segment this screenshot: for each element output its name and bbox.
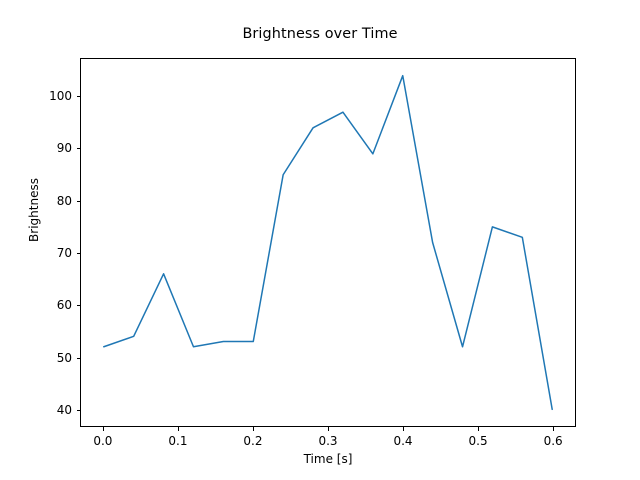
x-tick-label: 0.2: [243, 434, 262, 448]
brightness-series-line: [104, 76, 552, 410]
x-tick-label: 0.4: [393, 434, 412, 448]
chart-title: Brightness over Time: [0, 26, 640, 42]
matplotlib-figure: Brightness over Time 4050607080901000.00…: [0, 0, 640, 480]
plot-axes: [80, 58, 576, 427]
x-tick-mark: [103, 427, 104, 431]
line-plot: [81, 59, 575, 426]
x-axis-label: Time [s]: [80, 452, 576, 466]
y-tick-label: 60: [20, 298, 72, 312]
x-tick-mark: [178, 427, 179, 431]
x-tick-label: 0.0: [93, 434, 112, 448]
x-tick-mark: [328, 427, 329, 431]
x-tick-mark: [553, 427, 554, 431]
x-tick-mark: [253, 427, 254, 431]
y-tick-label: 40: [20, 403, 72, 417]
x-tick-mark: [403, 427, 404, 431]
x-tick-label: 0.6: [544, 434, 563, 448]
x-tick-label: 0.1: [168, 434, 187, 448]
y-axis-label: Brightness: [27, 140, 41, 280]
y-tick-label: 100: [20, 89, 72, 103]
x-tick-label: 0.5: [469, 434, 488, 448]
y-tick-label: 50: [20, 351, 72, 365]
x-tick-mark: [478, 427, 479, 431]
x-tick-label: 0.3: [318, 434, 337, 448]
